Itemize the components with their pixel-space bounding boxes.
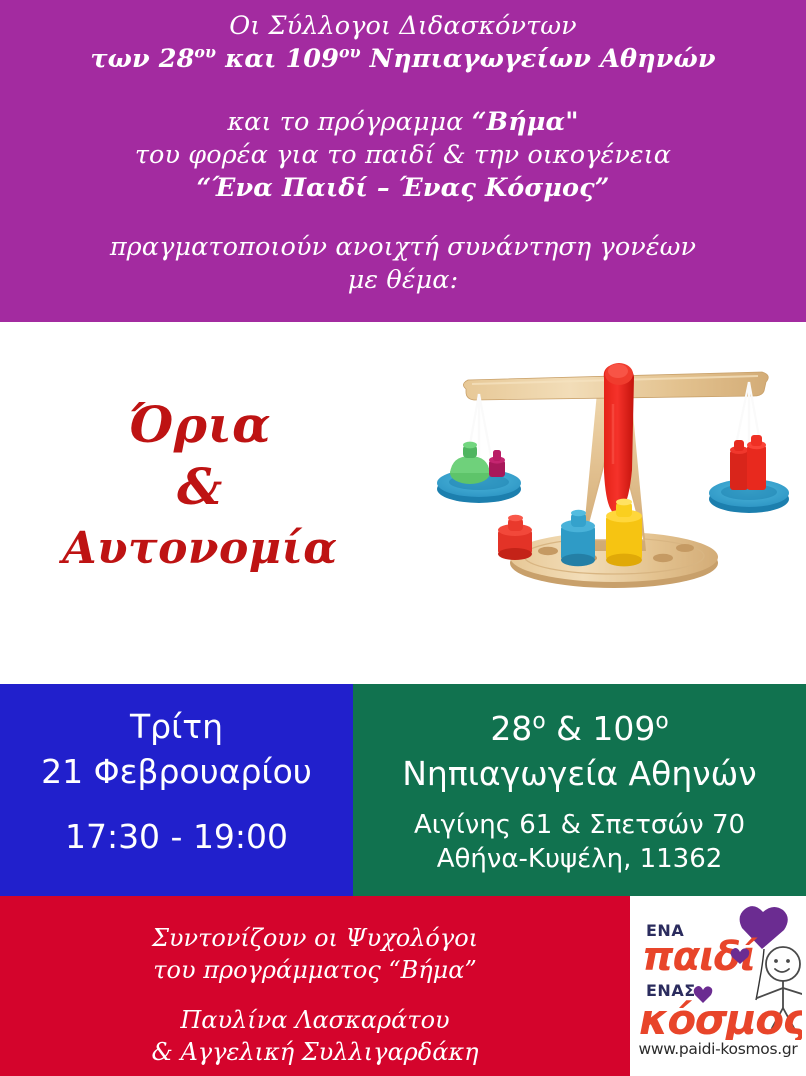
venue-address-street: Αιγίνης 61 & Σπετσών 70	[353, 808, 806, 842]
details-band: Τρίτη 21 Φεβρουαρίου 17:30 - 19:00 28ο &…	[0, 684, 806, 896]
logo-kosmos-text: κόσμος	[639, 995, 802, 1040]
header-spacer-1	[40, 76, 766, 106]
header-line-organisation: του φορέα για το παιδί & την οικογένεια	[40, 139, 766, 172]
event-time: 17:30 - 19:00	[0, 814, 353, 859]
venue-schools-pre: 28	[490, 709, 532, 748]
header-line-schools: των 28ου και 109ου Νηπιαγωγείων Αθηνών	[40, 43, 766, 76]
venue-ordinal-28: ο	[532, 709, 545, 734]
logo-website-url[interactable]: www.paidi-kosmos.gr	[630, 1040, 806, 1058]
venue-schools-name: Νηπιαγωγεία Αθηνών	[353, 751, 806, 796]
venue-schools-mid: & 109	[546, 709, 656, 748]
venue-box: 28ο & 109ο Νηπιαγωγεία Αθηνών Αιγίνης 61…	[353, 684, 806, 896]
header-ordinal-109: ου	[339, 43, 361, 62]
header-line-meeting: πραγματοποιούν ανοιχτή συνάντηση γονέων	[40, 231, 766, 264]
venue-ordinal-109: ο	[655, 709, 668, 734]
venue-address-city: Αθήνα-Κυψέλη, 11362	[353, 842, 806, 876]
date-spacer	[0, 794, 353, 814]
header-ordinal-28: ου	[194, 43, 216, 62]
topic-title-line-2: Αυτονομία	[0, 518, 400, 580]
footer-line-name-1: Παυλίνα Λασκαράτου	[0, 1004, 630, 1036]
footer-spacer	[0, 986, 630, 1004]
header-schools-post: Νηπιαγωγείων Αθηνών	[361, 44, 716, 74]
logo-panel: ΕΝΑ παιδί ΕΝΑΣ κόσμος www.paidi-kosmos.g…	[630, 896, 806, 1076]
header-programme-pre: και το πρόγραμμα	[227, 107, 471, 137]
header-schools-pre: των 28	[90, 44, 194, 74]
header-programme-name: “Βήμα"	[472, 107, 579, 137]
venue-schools: 28ο & 109ο	[353, 706, 806, 751]
poster-topic-section: Όρια & Αυτονομία	[0, 322, 806, 684]
header-spacer-2	[40, 205, 766, 231]
header-schools-mid: και 109	[216, 44, 339, 74]
header-line-topic-label: με θέμα:	[40, 264, 766, 297]
header-line-organizers: Οι Σύλλογοι Διδασκόντων	[40, 10, 766, 43]
topic-title-ampersand: &	[0, 456, 400, 518]
poster-header: Οι Σύλλογοι Διδασκόντων των 28ου και 109…	[0, 0, 806, 322]
footer-line-name-2: & Αγγελική Συλλιγαρδάκη	[0, 1036, 630, 1068]
header-line-programme: και το πρόγραμμα “Βήμα"	[40, 106, 766, 139]
footer-line-coordinators: Συντονίζουν οι Ψυχολόγοι	[0, 922, 630, 954]
date-time-box: Τρίτη 21 Φεβρουαρίου 17:30 - 19:00	[0, 684, 353, 896]
footer-text-block: Συντονίζουν οι Ψυχολόγοι του προγράμματο…	[0, 896, 630, 1076]
event-date: 21 Φεβρουαρίου	[0, 749, 353, 794]
event-poster: Οι Σύλλογοι Διδασκόντων των 28ου και 109…	[0, 0, 806, 1076]
topic-title-line-1: Όρια	[0, 394, 400, 456]
topic-title: Όρια & Αυτονομία	[0, 394, 400, 580]
footer-line-programme: του προγράμματος “Βήμα”	[0, 954, 630, 986]
ena-paidi-enas-kosmos-logo: ΕΝΑ παιδί ΕΝΑΣ κόσμος	[636, 900, 802, 1040]
event-day: Τρίτη	[0, 704, 353, 749]
header-line-organisation-name: “Ένα Παιδί – Ένας Κόσμος”	[40, 172, 766, 205]
venue-spacer	[353, 796, 806, 808]
balance-scale-toy-illustration	[432, 344, 796, 598]
